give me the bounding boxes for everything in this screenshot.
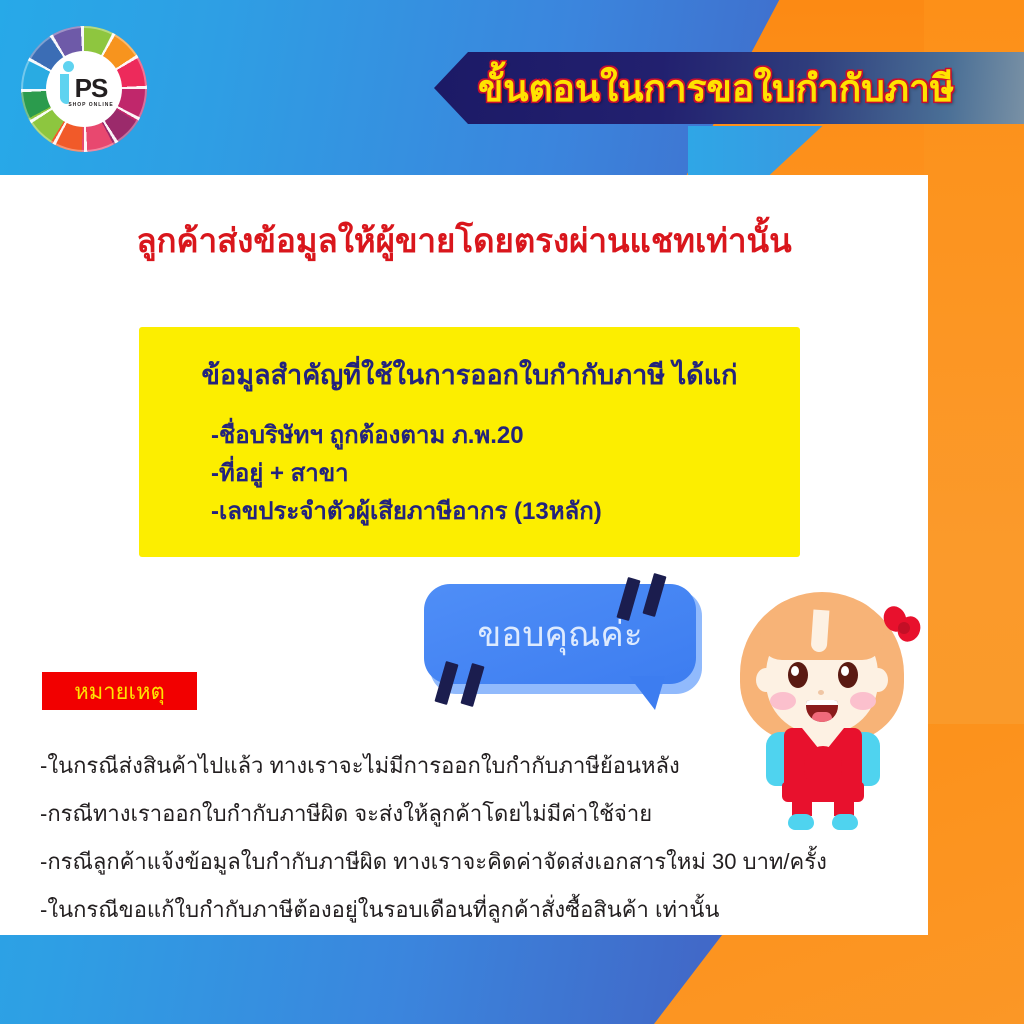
info-box-item: -เลขประจำตัวผู้เสียภาษีอากร (13หลัก) [211, 493, 602, 531]
title-ribbon: ขั้นตอนในการขอใบกำกับภาษี [434, 52, 1024, 124]
character-tongue [812, 712, 832, 722]
ips-logo: PS SHOP ONLINE [12, 22, 156, 156]
info-box-list: -ชื่อบริษัทฯ ถูกต้องตาม ภ.พ.20 -ที่อยู่ … [211, 417, 602, 531]
character-eye-shine-right [841, 666, 849, 676]
character-teeth [806, 700, 838, 705]
note-list-item: -ในกรณีส่งสินค้าไปแล้ว ทางเราจะไม่มีการอ… [40, 742, 910, 790]
note-badge-label: หมายเหตุ [74, 674, 165, 709]
logo-tagline-text: SHOP ONLINE [68, 103, 113, 108]
page-headline: ลูกค้าส่งข้อมูลให้ผู้ขายโดยตรงผ่านแชทเท่… [0, 214, 928, 267]
note-list-item: -กรณีทางเราออกใบกำกับภาษีผิด จะส่งให้ลูก… [40, 790, 910, 838]
logo-i-dot-icon [63, 61, 74, 72]
character-nose [818, 690, 824, 695]
poster-canvas: PS SHOP ONLINE ขั้นตอนในการขอใบกำกับภาษี… [0, 0, 1024, 1024]
info-box: ข้อมูลสำคัญที่ใช้ในการออกใบกำกับภาษี ได้… [139, 327, 800, 557]
character-eye-shine-left [791, 666, 799, 676]
note-list-item: -ในกรณีขอแก้ใบกำกับภาษีต้องอยู่ในรอบเดือ… [40, 886, 910, 934]
note-list: -ในกรณีส่งสินค้าไปแล้ว ทางเราจะไม่มีการอ… [40, 742, 910, 934]
logo-brand-text: PS [75, 75, 108, 101]
speech-bubble: ขอบคุณค่ะ [424, 584, 714, 724]
character-cheek-right [850, 692, 876, 710]
character-cheek-left [770, 692, 796, 710]
note-list-item: -กรณีลูกค้าแจ้งข้อมูลใบกำกับภาษีผิด ทางเ… [40, 838, 910, 886]
info-box-item: -ที่อยู่ + สาขา [211, 455, 602, 493]
character-eye-left [788, 662, 808, 688]
character-bangs-parting [811, 609, 830, 652]
info-box-item: -ชื่อบริษัทฯ ถูกต้องตาม ภ.พ.20 [211, 417, 602, 455]
logo-hub: PS SHOP ONLINE [46, 51, 122, 127]
ribbon-title-text: ขั้นตอนในการขอใบกำกับภาษี [478, 59, 954, 118]
logo-i-stem-icon [60, 74, 69, 104]
character-bow-knot [898, 622, 910, 634]
character-eye-right [838, 662, 858, 688]
note-badge: หมายเหตุ [42, 672, 197, 710]
info-box-title: ข้อมูลสำคัญที่ใช้ในการออกใบกำกับภาษี ได้… [139, 353, 800, 396]
